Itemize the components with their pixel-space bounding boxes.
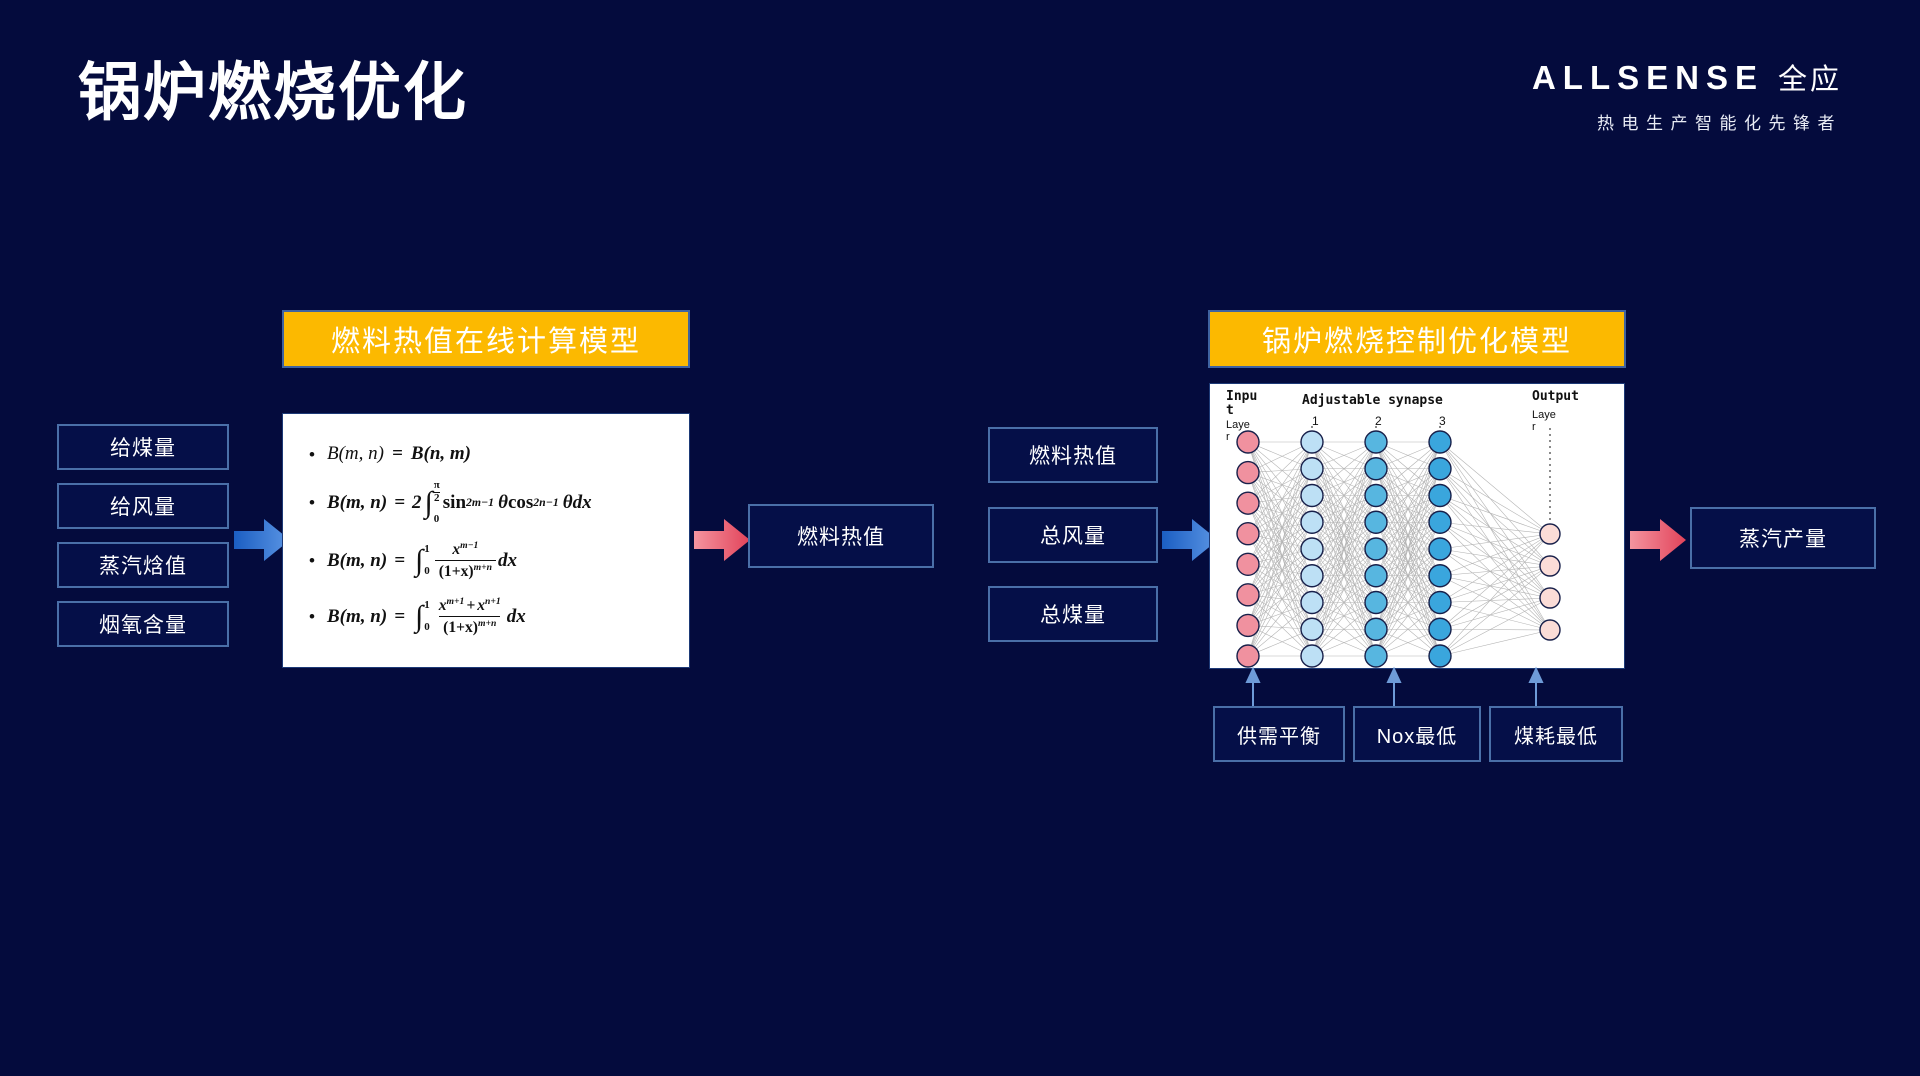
- integral-lower-1: 0: [434, 514, 440, 526]
- stage1-output-label: 燃料热值: [797, 521, 885, 551]
- integral-limits-3: 1 0: [424, 600, 430, 633]
- formula-1-fn1: sin: [443, 492, 466, 514]
- formula-1-var1: θ: [498, 492, 508, 514]
- integral-lower-3: 0: [424, 622, 430, 634]
- arrow-right-icon: [1630, 516, 1686, 564]
- formula-0-rhs: B(n, m): [411, 443, 471, 465]
- formula-bullet-1: •: [297, 494, 327, 511]
- formula-row-2: • B(m, n) = ∫ 1 0 xm−1 (1+x)m+n: [297, 540, 671, 581]
- brand-logo: ALLSENSE 全应 热电生产智能化先锋者: [1532, 56, 1842, 134]
- integral-upper-1: π 2: [434, 480, 440, 504]
- integral-2: ∫ 1 0: [415, 544, 430, 577]
- brand-name-en: ALLSENSE: [1532, 59, 1764, 97]
- stage1-input-1-label: 给风量: [110, 491, 176, 521]
- frac3-num-a-exp: m+1: [447, 596, 465, 607]
- stage2-band-label: 锅炉燃烧控制优化模型: [1262, 318, 1572, 360]
- formula-bullet-0: •: [297, 446, 327, 463]
- stage2-network-panel: Inpu t Laye r Adjustable synapse 1 2 3 O…: [1209, 383, 1625, 669]
- fraction-3: xm+1+xn+1 (1+x)m+n: [435, 596, 505, 637]
- stage2-constraint-0-label: 供需平衡: [1237, 720, 1321, 749]
- integral-limits-2: 1 0: [424, 544, 430, 577]
- frac3-num-b-exp: n+1: [485, 596, 501, 607]
- integral-3: ∫ 1 0: [415, 600, 430, 633]
- brand-tagline: 热电生产智能化先锋者: [1532, 109, 1842, 134]
- formula-2-eq: =: [394, 550, 405, 572]
- slide-canvas: 锅炉燃烧优化 ALLSENSE 全应 热电生产智能化先锋者 燃料热值在线计算模型…: [0, 0, 1920, 1076]
- integral-sign-icon: ∫: [415, 605, 423, 629]
- formula-body-1: B(m, n) = 2 ∫ π 2 0 sin2m−1: [327, 480, 592, 526]
- formula-1-lhs: B(m, n): [327, 492, 387, 514]
- integral-sign-icon: ∫: [415, 549, 423, 573]
- stage2-input-2[interactable]: 总煤量: [988, 586, 1158, 642]
- fraction-3-num: xm+1+xn+1: [435, 596, 505, 616]
- integral-upper-3: 1: [424, 600, 430, 612]
- formula-bullet-2: •: [297, 552, 327, 569]
- integral-upper-2: 1: [424, 544, 430, 556]
- stage1-input-3-label: 烟氧含量: [99, 609, 187, 639]
- stage1-formula-panel: • B(m, n) = B(n, m) • B(m, n) = 2 ∫: [282, 413, 690, 668]
- fraction-2-den: (1+x)m+n: [435, 560, 496, 581]
- stage1-input-2-label: 蒸汽焓值: [99, 550, 187, 580]
- stage2-constraint-1-label: Nox最低: [1377, 720, 1458, 749]
- stage1-band-label: 燃料热值在线计算模型: [331, 318, 641, 360]
- formula-1-exp2: 2n−1: [533, 496, 558, 510]
- formula-body-0: B(m, n) = B(n, m): [327, 443, 471, 465]
- formula-3-eq: =: [394, 606, 405, 628]
- stage1-input-0[interactable]: 给煤量: [57, 424, 229, 470]
- formula-1-var2: θ: [563, 492, 573, 514]
- stage2-input-1-label: 总风量: [1040, 520, 1106, 550]
- stage2-output-label: 蒸汽产量: [1739, 523, 1827, 553]
- stage2-constraint-0[interactable]: 供需平衡: [1213, 706, 1345, 762]
- brand-name-cn: 全应: [1778, 56, 1842, 98]
- formula-1-dx: dx: [573, 492, 592, 514]
- integral-1: ∫ π 2 0: [425, 480, 440, 526]
- frac3-num-b: x: [477, 597, 485, 614]
- frac3-den-exp: m+n: [478, 618, 496, 629]
- stage1-band: 燃料热值在线计算模型: [282, 310, 690, 368]
- stage2-band: 锅炉燃烧控制优化模型: [1208, 310, 1626, 368]
- frac2-num-exp: m−1: [460, 540, 478, 551]
- formula-body-2: B(m, n) = ∫ 1 0 xm−1 (1+x)m+n dx: [327, 540, 517, 581]
- stage1-input-3[interactable]: 烟氧含量: [57, 601, 229, 647]
- stage2-constraint-2[interactable]: 煤耗最低: [1489, 706, 1623, 762]
- stage2-input-0[interactable]: 燃料热值: [988, 427, 1158, 483]
- stage2-constraint-2-label: 煤耗最低: [1514, 720, 1598, 749]
- fraction-2-num: xm−1: [448, 540, 482, 560]
- formula-1-exp1: 2m−1: [466, 496, 494, 510]
- integral-lower-2: 0: [424, 566, 430, 578]
- frac2-den-base: (1+x): [439, 564, 474, 581]
- frac3-num-plus: +: [466, 597, 475, 614]
- frac3-den-base: (1+x): [443, 620, 478, 637]
- formula-row-0: • B(m, n) = B(n, m): [297, 443, 671, 465]
- stage1-input-2[interactable]: 蒸汽焓值: [57, 542, 229, 588]
- stage1-input-0-label: 给煤量: [110, 432, 176, 462]
- stage2-input-1[interactable]: 总风量: [988, 507, 1158, 563]
- formula-row-1: • B(m, n) = 2 ∫ π 2 0: [297, 480, 671, 526]
- stage2-input-2-label: 总煤量: [1040, 599, 1106, 629]
- formula-3-lhs: B(m, n): [327, 606, 387, 628]
- stage1-input-1[interactable]: 给风量: [57, 483, 229, 529]
- nn-graph: [1210, 384, 1626, 670]
- stage1-output[interactable]: 燃料热值: [748, 504, 934, 568]
- formula-row-3: • B(m, n) = ∫ 1 0 xm+1+xn+1 (1+x)m+n: [297, 596, 671, 637]
- stage2-input-0-label: 燃料热值: [1029, 440, 1117, 470]
- formula-3-dx: dx: [507, 606, 526, 628]
- formula-2-lhs: B(m, n): [327, 550, 387, 572]
- frac2-num-base: x: [452, 541, 460, 558]
- page-title: 锅炉燃烧优化: [78, 42, 468, 133]
- arrow-right-icon: [694, 516, 750, 564]
- formula-bullet-3: •: [297, 608, 327, 625]
- formula-1-fn2: cos: [508, 492, 533, 514]
- fraction-3-den: (1+x)m+n: [439, 616, 500, 637]
- formula-body-3: B(m, n) = ∫ 1 0 xm+1+xn+1 (1+x)m+n dx: [327, 596, 526, 637]
- integral-sign-icon: ∫: [425, 491, 433, 515]
- arrow-red-stage1-out: [694, 516, 750, 564]
- formula-1-eq: =: [394, 492, 405, 514]
- integral-limits-1: π 2 0: [434, 480, 440, 526]
- stage2-output[interactable]: 蒸汽产量: [1690, 507, 1876, 569]
- formula-1-coeff: 2: [412, 492, 422, 514]
- formula-0-lhs: B(m, n): [327, 443, 384, 465]
- int-hi-den-1: 2: [434, 492, 440, 505]
- frac2-den-exp: m+n: [474, 562, 492, 573]
- neural-network-diagram: Inpu t Laye r Adjustable synapse 1 2 3 O…: [1210, 384, 1624, 668]
- formula-0-eq: =: [392, 443, 403, 465]
- frac3-num-a: x: [439, 597, 447, 614]
- stage2-constraint-1[interactable]: Nox最低: [1353, 706, 1481, 762]
- formula-list: • B(m, n) = B(n, m) • B(m, n) = 2 ∫: [283, 414, 689, 667]
- fraction-2: xm−1 (1+x)m+n: [435, 540, 496, 581]
- formula-2-dx: dx: [498, 550, 517, 572]
- int-hi-num-1: π: [434, 480, 440, 492]
- arrow-red-stage2-out: [1630, 516, 1686, 564]
